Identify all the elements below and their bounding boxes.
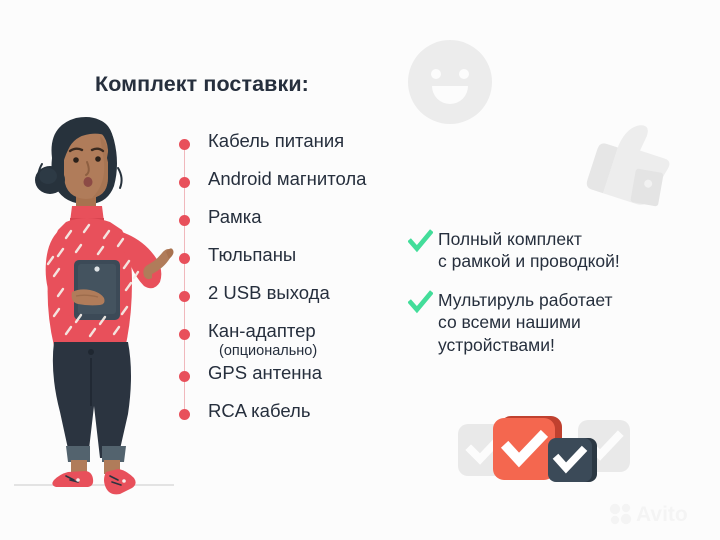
benefits-list: Полный комплектс рамкой и проводкой!Муль… bbox=[408, 228, 698, 372]
list-item: Кан-адаптер(опционально) bbox=[178, 318, 408, 360]
benefit-line: устройствами! bbox=[438, 334, 698, 356]
list-item-label: RCA кабель bbox=[208, 400, 408, 423]
bullet-dot-icon bbox=[179, 139, 190, 150]
benefit-line: с рамкой и проводкой! bbox=[438, 250, 698, 272]
green-check-icon bbox=[408, 289, 438, 320]
list-item-text: RCA кабель bbox=[208, 398, 408, 423]
benefit-item: Полный комплектс рамкой и проводкой! bbox=[408, 228, 698, 273]
green-check-icon bbox=[408, 228, 438, 259]
list-item-text: Android магнитола bbox=[208, 166, 408, 191]
bullet-column bbox=[178, 166, 208, 188]
benefit-text: Полный комплектс рамкой и проводкой! bbox=[438, 228, 698, 273]
list-item-text: GPS антенна bbox=[208, 360, 408, 385]
list-item: Кабель питания bbox=[178, 128, 408, 166]
list-item-text: Кан-адаптер(опционально) bbox=[208, 318, 408, 360]
list-item-label: Рамка bbox=[208, 206, 408, 229]
benefit-text: Мультируль работаетсо всеми нашимиустрой… bbox=[438, 289, 698, 356]
list-item-label: Кабель питания bbox=[208, 130, 408, 153]
list-item: GPS антенна bbox=[178, 360, 408, 398]
list-item: Тюльпаны bbox=[178, 242, 408, 280]
benefit-item: Мультируль работаетсо всеми нашимиустрой… bbox=[408, 289, 698, 356]
list-item-text: Кабель питания bbox=[208, 128, 408, 153]
list-item: Android магнитола bbox=[178, 166, 408, 204]
bullet-dot-icon bbox=[179, 409, 190, 420]
woman-pointing-illustration bbox=[14, 106, 174, 506]
list-item-text: 2 USB выхода bbox=[208, 280, 408, 305]
list-item-text: Тюльпаны bbox=[208, 242, 408, 267]
bullet-dot-icon bbox=[179, 253, 190, 264]
list-item: 2 USB выхода bbox=[178, 280, 408, 318]
list-item: RCA кабель bbox=[178, 398, 408, 436]
bullet-column bbox=[178, 318, 208, 340]
avito-watermark: Avito bbox=[608, 500, 706, 526]
list-item-sublabel: (опционально) bbox=[208, 343, 408, 360]
smiley-face-icon bbox=[404, 36, 496, 128]
bullet-column bbox=[178, 280, 208, 302]
bullet-dot-icon bbox=[179, 329, 190, 340]
bullet-dot-icon bbox=[179, 291, 190, 302]
bullet-column bbox=[178, 204, 208, 226]
bullet-dot-icon bbox=[179, 215, 190, 226]
package-contents-list: Кабель питанияAndroid магнитолаРамкаТюль… bbox=[178, 128, 408, 436]
page-title: Комплект поставки: bbox=[95, 72, 309, 97]
benefit-line: Мультируль работает bbox=[438, 289, 698, 311]
list-item-label: 2 USB выхода bbox=[208, 282, 408, 305]
list-item-label: GPS антенна bbox=[208, 362, 408, 385]
list-item-text: Рамка bbox=[208, 204, 408, 229]
bullet-column bbox=[178, 128, 208, 150]
benefit-line: со всеми нашими bbox=[438, 311, 698, 333]
bullet-column bbox=[178, 242, 208, 264]
list-item-label: Тюльпаны bbox=[208, 244, 408, 267]
svg-text:Avito: Avito bbox=[636, 503, 688, 526]
bullet-column bbox=[178, 398, 208, 420]
list-item: Рамка bbox=[178, 204, 408, 242]
benefit-line: Полный комплект bbox=[438, 228, 698, 250]
promo-image-canvas: Комплект поставки: Кабель питанияAndroid… bbox=[0, 0, 720, 540]
thumbs-up-icon bbox=[578, 110, 682, 214]
bullet-column bbox=[178, 360, 208, 382]
timeline-connector bbox=[184, 334, 186, 376]
bullet-dot-icon bbox=[179, 177, 190, 188]
bullet-dot-icon bbox=[179, 371, 190, 382]
list-item-label: Кан-адаптер bbox=[208, 320, 408, 343]
list-item-label: Android магнитола bbox=[208, 168, 408, 191]
checkbox-cards-icon bbox=[458, 406, 630, 490]
